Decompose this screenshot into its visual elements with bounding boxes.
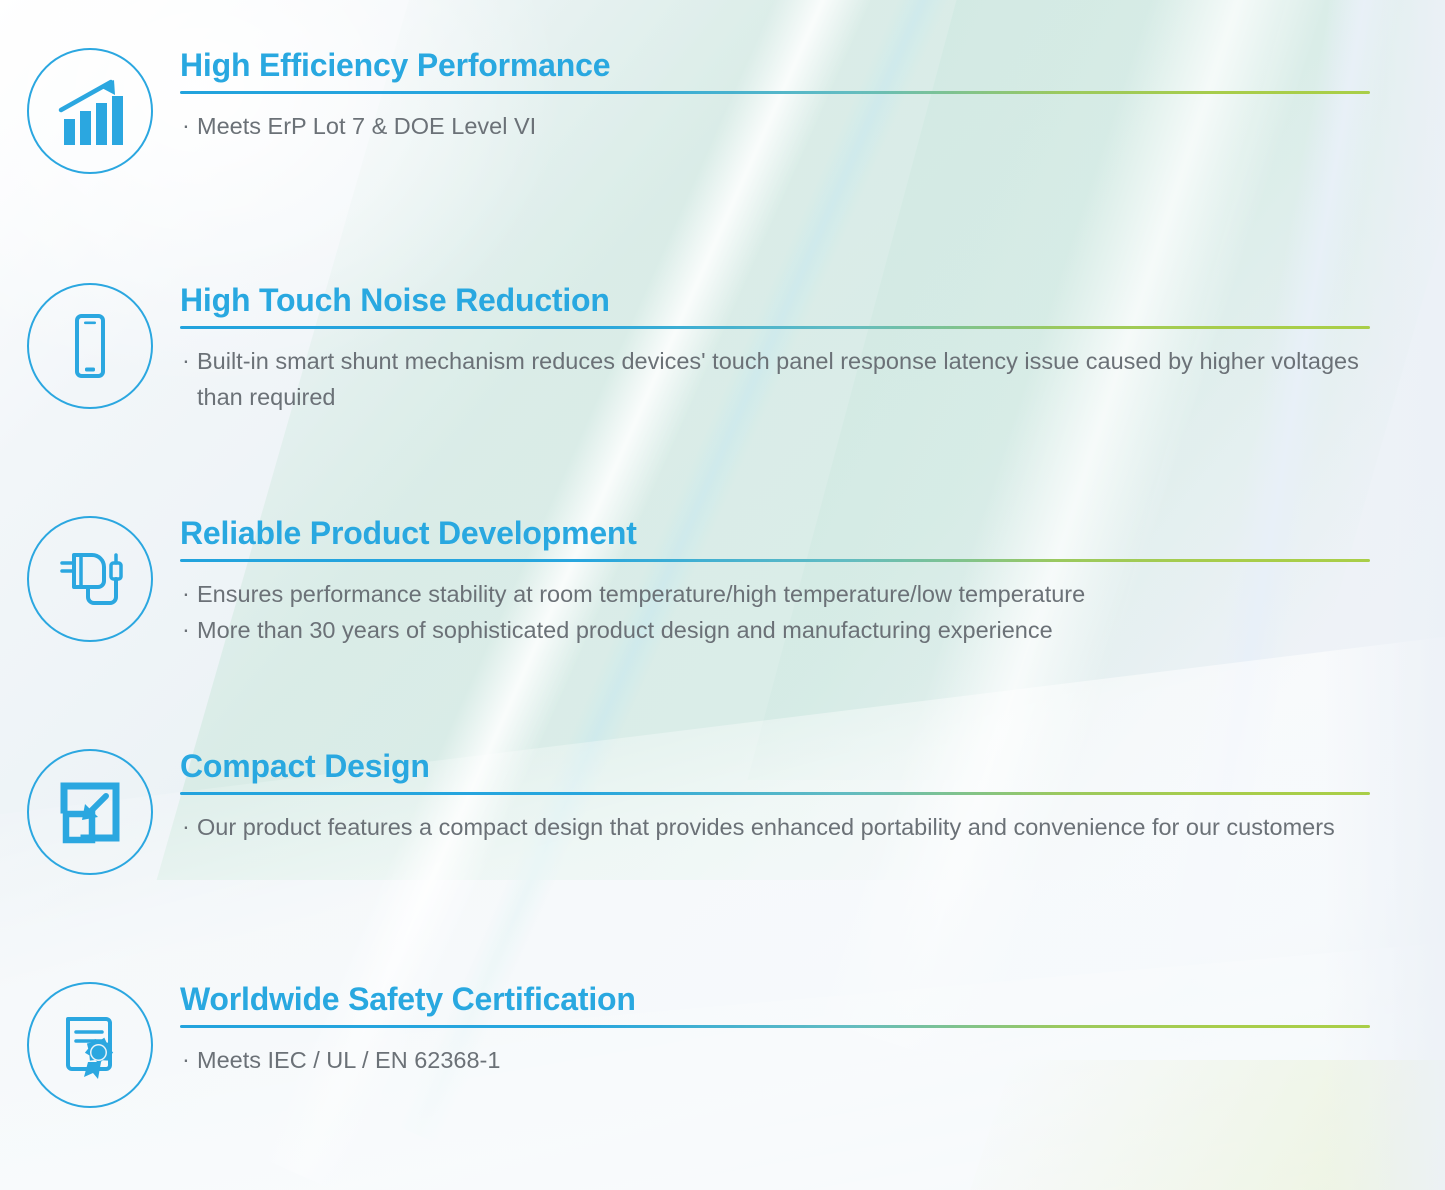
feature-bullet: Our product features a compact design th… [180, 809, 1370, 845]
certificate-award-icon [52, 1007, 128, 1083]
feature-icon-wrap [0, 743, 180, 875]
feature-item-reliable-product-development: Reliable Product Development Ensures per… [0, 510, 1445, 649]
feature-body: Compact Design Our product features a co… [180, 743, 1445, 845]
feature-body: Reliable Product Development Ensures per… [180, 510, 1445, 649]
feature-bullet: Meets ErP Lot 7 & DOE Level VI [180, 108, 1370, 144]
feature-divider [180, 91, 1370, 94]
feature-bullet: Built-in smart shunt mechanism reduces d… [180, 343, 1370, 416]
feature-divider [180, 559, 1370, 562]
feature-icon-wrap [0, 976, 180, 1108]
feature-bullet-list: Meets IEC / UL / EN 62368-1 [180, 1042, 1370, 1078]
feature-bullet: Ensures performance stability at room te… [180, 576, 1370, 612]
feature-bullet: More than 30 years of sophisticated prod… [180, 612, 1370, 648]
feature-bullet-list: Built-in smart shunt mechanism reduces d… [180, 343, 1370, 416]
feature-item-compact-design: Compact Design Our product features a co… [0, 743, 1445, 875]
icon-circle [27, 749, 153, 875]
feature-icon-wrap [0, 42, 180, 174]
feature-bullet-list: Our product features a compact design th… [180, 809, 1370, 845]
compact-resize-icon [54, 776, 126, 848]
feature-body: High Touch Noise Reduction Built-in smar… [180, 277, 1445, 416]
feature-title: Reliable Product Development [180, 516, 1370, 552]
feature-title: High Efficiency Performance [180, 48, 1370, 84]
feature-icon-wrap [0, 510, 180, 642]
smartphone-icon [51, 307, 129, 385]
feature-bullet: Meets IEC / UL / EN 62368-1 [180, 1042, 1370, 1078]
feature-body: Worldwide Safety Certification Meets IEC… [180, 976, 1445, 1078]
feature-divider [180, 1025, 1370, 1028]
feature-icon-wrap [0, 277, 180, 409]
feature-bullet-list: Meets ErP Lot 7 & DOE Level VI [180, 108, 1370, 144]
icon-circle [27, 982, 153, 1108]
feature-item-worldwide-safety-certification: Worldwide Safety Certification Meets IEC… [0, 976, 1445, 1108]
feature-divider [180, 326, 1370, 329]
icon-circle [27, 48, 153, 174]
bar-chart-growth-icon [51, 72, 129, 150]
power-adapter-icon [50, 539, 130, 619]
feature-list-page: High Efficiency Performance Meets ErP Lo… [0, 0, 1445, 1190]
feature-item-high-touch-noise-reduction: High Touch Noise Reduction Built-in smar… [0, 277, 1445, 416]
feature-list: High Efficiency Performance Meets ErP Lo… [0, 0, 1445, 1190]
icon-circle [27, 283, 153, 409]
feature-title: Worldwide Safety Certification [180, 982, 1370, 1018]
icon-circle [27, 516, 153, 642]
feature-title: High Touch Noise Reduction [180, 283, 1370, 319]
feature-item-high-efficiency-performance: High Efficiency Performance Meets ErP Lo… [0, 42, 1445, 174]
feature-bullet-list: Ensures performance stability at room te… [180, 576, 1370, 649]
feature-divider [180, 792, 1370, 795]
feature-body: High Efficiency Performance Meets ErP Lo… [180, 42, 1445, 144]
feature-title: Compact Design [180, 749, 1370, 785]
